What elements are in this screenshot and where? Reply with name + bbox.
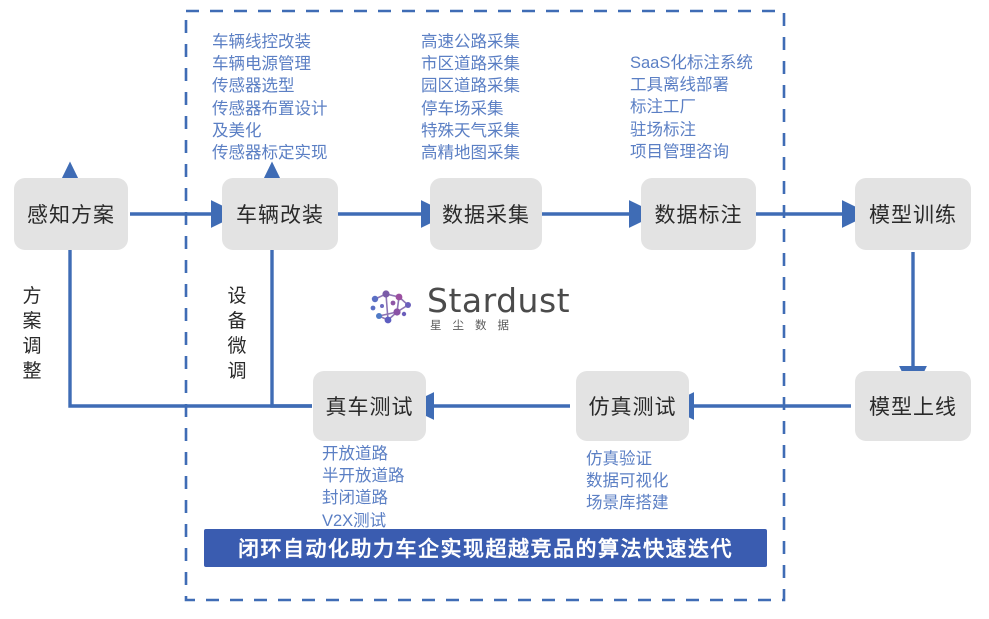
node-perception-plan-label: 感知方案 bbox=[27, 199, 115, 229]
stardust-logo-text: Stardust 星尘数据 bbox=[427, 284, 570, 334]
label-plan-adjustment-c2: 调 bbox=[20, 334, 44, 359]
node-vehicle-retrofit-label: 车辆改装 bbox=[236, 199, 324, 229]
node-model-deployment[interactable]: 模型上线 bbox=[855, 371, 971, 441]
stardust-network-mark bbox=[366, 286, 418, 332]
label-device-tuning-c2: 微 bbox=[225, 334, 249, 359]
node-model-deployment-label: 模型上线 bbox=[869, 391, 957, 421]
node-simulation-test[interactable]: 仿真测试 bbox=[576, 371, 689, 441]
closed-loop-banner: 闭环自动化助力车企实现超越竞品的算法快速迭代 bbox=[204, 529, 767, 567]
label-device-tuning: 设 备 微 调 bbox=[225, 284, 249, 384]
label-device-tuning-c3: 调 bbox=[225, 359, 249, 384]
stardust-wordmark: Stardust bbox=[427, 284, 570, 318]
node-data-collection-label: 数据采集 bbox=[442, 199, 530, 229]
node-data-collection[interactable]: 数据采集 bbox=[430, 178, 542, 250]
node-simulation-test-label: 仿真测试 bbox=[589, 391, 677, 421]
label-device-tuning-c0: 设 bbox=[225, 284, 249, 309]
label-plan-adjustment-c1: 案 bbox=[20, 309, 44, 334]
node-data-annotation-label: 数据标注 bbox=[655, 199, 743, 229]
bullets-data-collection: 高速公路采集 市区道路采集 园区道路采集 停车场采集 特殊天气采集 高精地图采集 bbox=[421, 31, 520, 164]
bullets-vehicle-retrofit: 车辆线控改装 车辆电源管理 传感器选型 传感器布置设计 及美化 传感器标定实现 bbox=[212, 31, 328, 164]
node-model-training-label: 模型训练 bbox=[869, 199, 957, 229]
node-vehicle-retrofit[interactable]: 车辆改装 bbox=[222, 178, 338, 250]
node-perception-plan[interactable]: 感知方案 bbox=[14, 178, 128, 250]
label-device-tuning-c1: 备 bbox=[225, 309, 249, 334]
node-model-training[interactable]: 模型训练 bbox=[855, 178, 971, 250]
node-real-vehicle-test[interactable]: 真车测试 bbox=[313, 371, 426, 441]
node-real-vehicle-test-label: 真车测试 bbox=[326, 391, 414, 421]
bullets-data-annotation: SaaS化标注系统 工具离线部署 标注工厂 驻场标注 项目管理咨询 bbox=[630, 52, 753, 163]
stardust-subtitle: 星尘数据 bbox=[430, 318, 570, 334]
bullets-real-vehicle-test: 开放道路 半开放道路 封闭道路 V2X测试 bbox=[322, 443, 405, 532]
node-data-annotation[interactable]: 数据标注 bbox=[641, 178, 756, 250]
bullets-simulation-test: 仿真验证 数据可视化 场景库搭建 bbox=[586, 448, 669, 515]
label-plan-adjustment-c3: 整 bbox=[20, 359, 44, 384]
label-plan-adjustment-c0: 方 bbox=[20, 284, 44, 309]
label-plan-adjustment: 方 案 调 整 bbox=[20, 284, 44, 384]
closed-loop-banner-text: 闭环自动化助力车企实现超越竞品的算法快速迭代 bbox=[238, 533, 733, 563]
stardust-logo: Stardust 星尘数据 bbox=[366, 280, 578, 338]
diagram-canvas: 感知方案 车辆改装 数据采集 数据标注 模型训练 模型上线 仿真测试 真车测试 … bbox=[0, 0, 989, 619]
